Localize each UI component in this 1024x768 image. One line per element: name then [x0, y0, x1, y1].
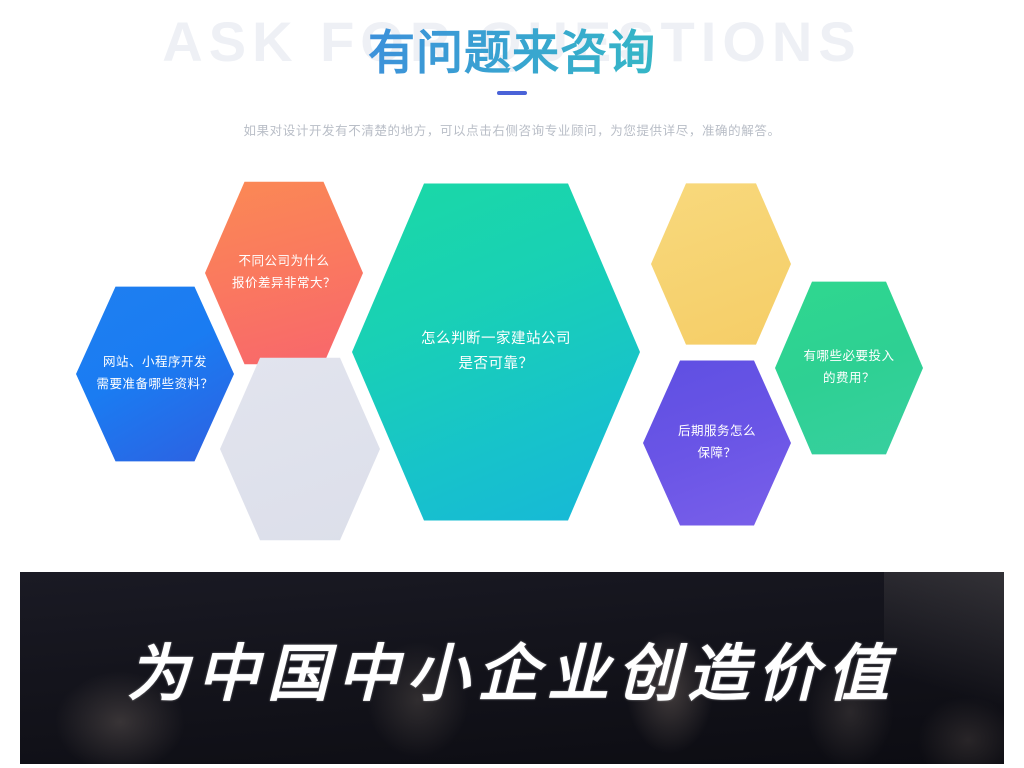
banner-slogan: 为中国中小企业创造价值 [20, 572, 1004, 764]
hexagon-label-line1: 不同公司为什么 [238, 251, 329, 273]
hexagon-label-line2: 报价差异非常大？ [232, 273, 336, 295]
bottom-banner: 为中国中小企业创造价值 [20, 572, 1004, 764]
hexagon-cluster: 网站、小程序开发 需要准备哪些资料？ 不同公司为什么 报价差异非常大？ 怎么判断… [0, 160, 1024, 560]
hexagon-label-line2: 保障？ [697, 443, 736, 465]
section-header: ASK FOR QUESTIONS 有问题来咨询 如果对设计开发有不清楚的地方，… [0, 0, 1024, 150]
hexagon-decorative-gray [220, 354, 380, 544]
hexagon-label-line1: 网站、小程序开发 [103, 352, 207, 374]
title-divider [497, 91, 527, 95]
hexagon-judge-company[interactable]: 怎么判断一家建站公司 是否可靠？ [352, 180, 640, 524]
hexagon-label-line2: 的费用？ [823, 368, 875, 390]
hexagon-after-service[interactable]: 后期服务怎么 保障？ [643, 357, 791, 529]
hexagon-label-line1: 后期服务怎么 [678, 421, 756, 443]
hexagon-quote-difference[interactable]: 不同公司为什么 报价差异非常大？ [205, 178, 363, 368]
hexagon-label-line2: 需要准备哪些资料？ [96, 374, 213, 396]
page-bottom-strip [0, 764, 1024, 768]
hexagon-decorative-yellow [651, 180, 791, 348]
hexagon-necessary-cost[interactable]: 有哪些必要投入 的费用？ [775, 278, 923, 458]
hexagon-label-line2: 是否可靠？ [459, 352, 534, 377]
hexagon-label-line1: 怎么判断一家建站公司 [421, 327, 571, 352]
page-root: ASK FOR QUESTIONS 有问题来咨询 如果对设计开发有不清楚的地方，… [0, 0, 1024, 768]
hexagon-website-materials[interactable]: 网站、小程序开发 需要准备哪些资料？ [76, 283, 234, 465]
page-subtitle: 如果对设计开发有不清楚的地方，可以点击右侧咨询专业顾问，为您提供详尽，准确的解答… [0, 120, 1024, 139]
page-title: 有问题来咨询 [0, 24, 1024, 83]
hexagon-label-line1: 有哪些必要投入 [803, 346, 894, 368]
